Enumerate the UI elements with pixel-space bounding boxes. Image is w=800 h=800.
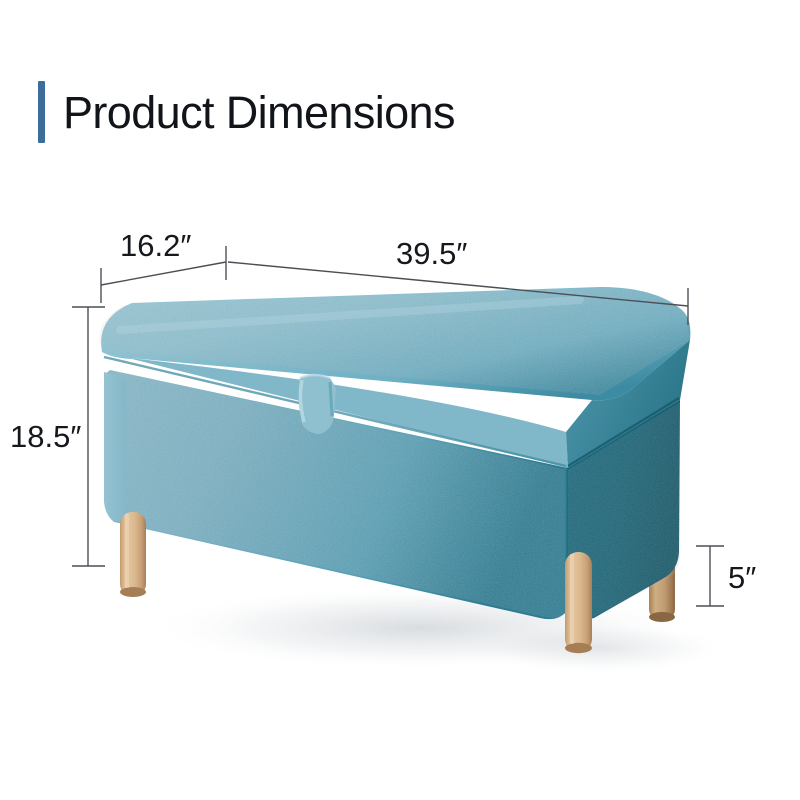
dimension-width: 39.5″ <box>228 236 688 325</box>
dimension-height: 18.5″ <box>10 307 105 566</box>
dimension-width-label: 39.5″ <box>396 236 467 271</box>
dimension-height-label: 18.5″ <box>10 419 81 454</box>
product-dimensions-image: Product Dimensions <box>0 0 800 800</box>
dimension-leg-height-label: 5″ <box>728 560 756 595</box>
dimension-leg-height: 5″ <box>696 546 756 606</box>
dimension-depth-label: 16.2″ <box>120 228 191 263</box>
dimension-depth: 16.2″ <box>101 228 226 303</box>
dimension-annotations: 16.2″ 39.5″ 18.5″ 5″ <box>0 0 800 800</box>
